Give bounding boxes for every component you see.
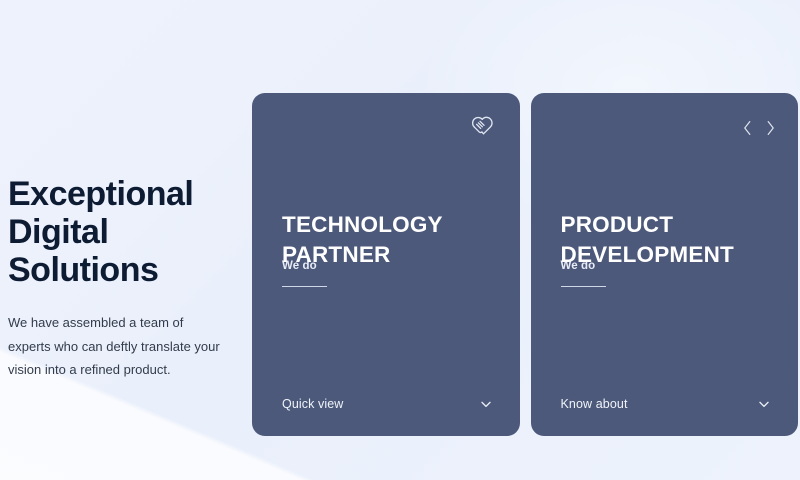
- card-title-line-2: PARTNER: [282, 240, 443, 270]
- card-title-line-1: PRODUCT: [561, 210, 734, 240]
- chevron-down-icon[interactable]: [754, 394, 774, 414]
- card-title-line-2: DEVELOPMENT: [561, 240, 734, 270]
- card-title: TECHNOLOGY PARTNER: [282, 210, 443, 270]
- chevron-down-icon[interactable]: [476, 394, 496, 414]
- chevron-left-icon[interactable]: [739, 117, 755, 139]
- card-title-line-1: TECHNOLOGY: [282, 210, 443, 240]
- carousel-nav: [739, 117, 778, 139]
- chevron-right-icon[interactable]: [762, 117, 778, 139]
- page-title-line-1: Exceptional: [8, 175, 240, 213]
- service-card-technology-partner[interactable]: We do TECHNOLOGY PARTNER Quick view: [252, 93, 520, 436]
- know-about-link[interactable]: Know about: [561, 397, 628, 411]
- card-divider: [561, 286, 606, 287]
- card-title: PRODUCT DEVELOPMENT: [561, 210, 734, 270]
- card-divider: [282, 286, 327, 287]
- card-footer: Quick view: [282, 394, 496, 414]
- card-footer: Know about: [561, 394, 775, 414]
- page-title: Exceptional Digital Solutions: [8, 175, 240, 289]
- hero-section: Exceptional Digital Solutions We have as…: [8, 175, 240, 382]
- page-root: Exceptional Digital Solutions We have as…: [0, 0, 800, 480]
- page-title-line-2: Digital: [8, 213, 240, 251]
- service-card-product-development[interactable]: We do PRODUCT DEVELOPMENT Know about: [531, 93, 799, 436]
- page-title-line-3: Solutions: [8, 251, 240, 289]
- handshake-heart-icon: [465, 110, 499, 144]
- quick-view-link[interactable]: Quick view: [282, 397, 343, 411]
- service-card-list: We do TECHNOLOGY PARTNER Quick view: [252, 93, 798, 436]
- hero-description: We have assembled a team of experts who …: [8, 311, 223, 382]
